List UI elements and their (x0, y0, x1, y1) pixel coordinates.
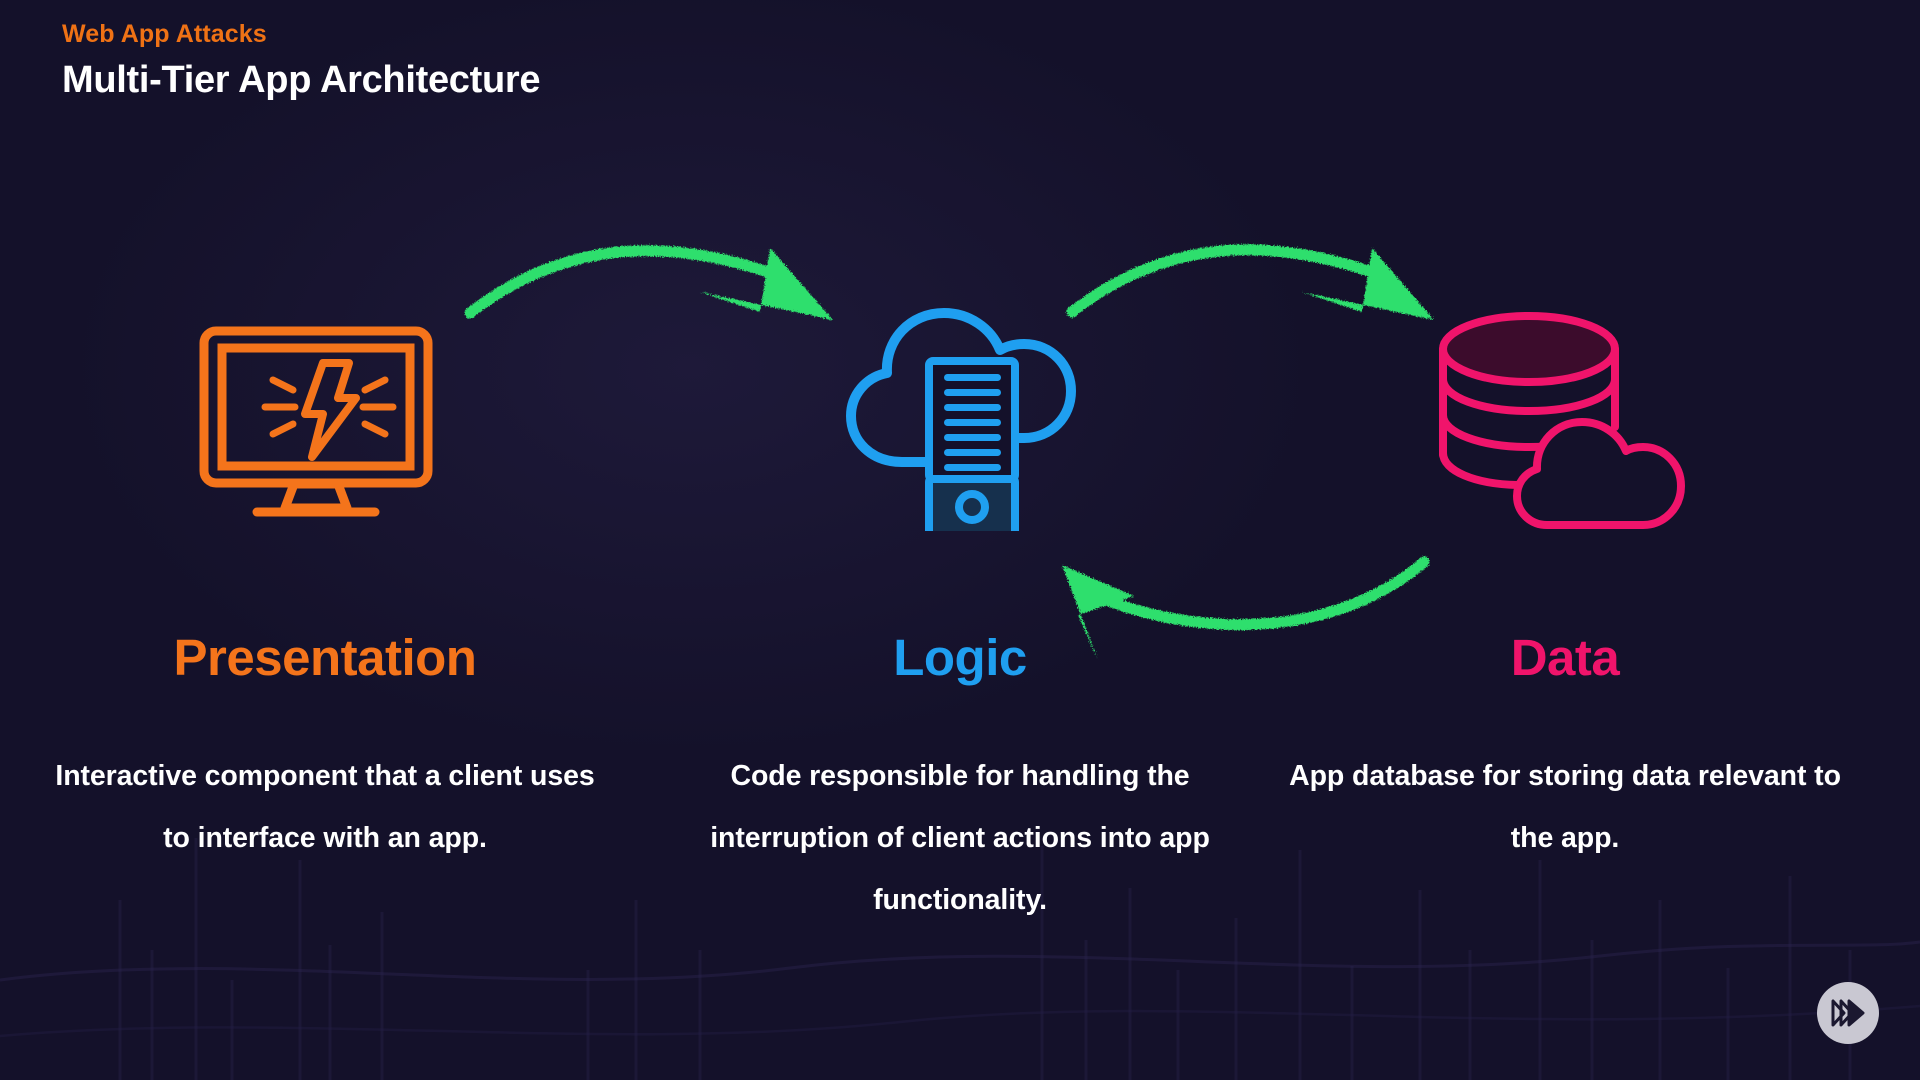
monitor-lightning-icon-wrap (45, 272, 605, 572)
tier-presentation: Presentation Interactive component that … (45, 0, 605, 1080)
tier-data: Data App database for storing data relev… (1285, 0, 1845, 1080)
play-chevron-logo-icon (1830, 998, 1866, 1028)
cloud-server-icon (825, 286, 1095, 531)
cloud-server-icon-wrap (680, 258, 1240, 558)
tier-description-data: App database for storing data relevant t… (1285, 745, 1845, 869)
monitor-lightning-icon (195, 322, 455, 522)
brand-logo-badge[interactable] (1817, 982, 1879, 1044)
database-cloud-icon (1425, 303, 1705, 533)
tier-heading-data: Data (1285, 632, 1845, 683)
database-cloud-icon-wrap (1285, 268, 1845, 568)
slide-canvas: Web App Attacks Multi-Tier App Architect… (0, 0, 1920, 1080)
tier-heading-logic: Logic (680, 632, 1240, 683)
tier-heading-presentation: Presentation (45, 632, 605, 683)
tier-description-logic: Code responsible for handling the interr… (680, 745, 1240, 931)
tier-description-presentation: Interactive component that a client uses… (55, 745, 595, 869)
tier-columns: Presentation Interactive component that … (0, 0, 1920, 1080)
tier-logic: Logic Code responsible for handling the … (680, 0, 1240, 1080)
